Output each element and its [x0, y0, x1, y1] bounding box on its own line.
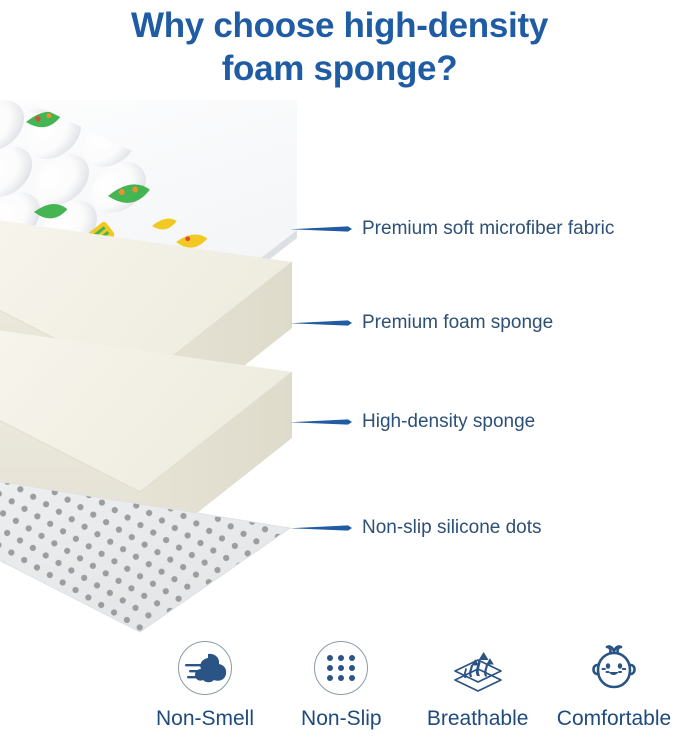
callout-label: Premium foam sponge — [362, 310, 553, 336]
callout-premium-foam: Premium foam sponge — [290, 310, 553, 336]
callout-label: Non-slip silicone dots — [362, 515, 542, 541]
exploded-mattress-illustration — [0, 100, 330, 645]
callout-label: Premium soft microfiber fabric — [362, 216, 614, 242]
dot-grid-icon — [311, 638, 371, 698]
wind-smell-icon — [175, 638, 235, 698]
feature-label: Non-Smell — [156, 706, 254, 732]
feature-badge-row: Non-Smell Non-Slip — [140, 638, 679, 748]
feature-label: Comfortable — [557, 706, 671, 732]
leader-line-icon — [290, 418, 352, 426]
callout-silicone-dots: Non-slip silicone dots — [290, 515, 542, 541]
page-title: Why choose high-density foam sponge? — [0, 0, 679, 102]
page-title-line-2: foam sponge? — [0, 47, 679, 90]
baby-face-icon — [584, 638, 644, 698]
breathable-layers-icon — [448, 638, 508, 698]
callout-microfiber-cover: Premium soft microfiber fabric — [290, 216, 614, 242]
leader-line-icon — [290, 524, 352, 532]
callout-label: High-density sponge — [362, 409, 535, 435]
feature-breathable: Breathable — [413, 638, 543, 732]
leader-line-icon — [290, 319, 352, 327]
feature-non-smell: Non-Smell — [140, 638, 270, 732]
feature-non-slip: Non-Slip — [276, 638, 406, 732]
feature-label: Non-Slip — [301, 706, 382, 732]
callout-high-density-foam: High-density sponge — [290, 409, 535, 435]
page-title-line-1: Why choose high-density — [0, 4, 679, 47]
feature-comfortable: Comfortable — [549, 638, 679, 732]
feature-label: Breathable — [427, 706, 529, 732]
leader-line-icon — [290, 225, 352, 233]
